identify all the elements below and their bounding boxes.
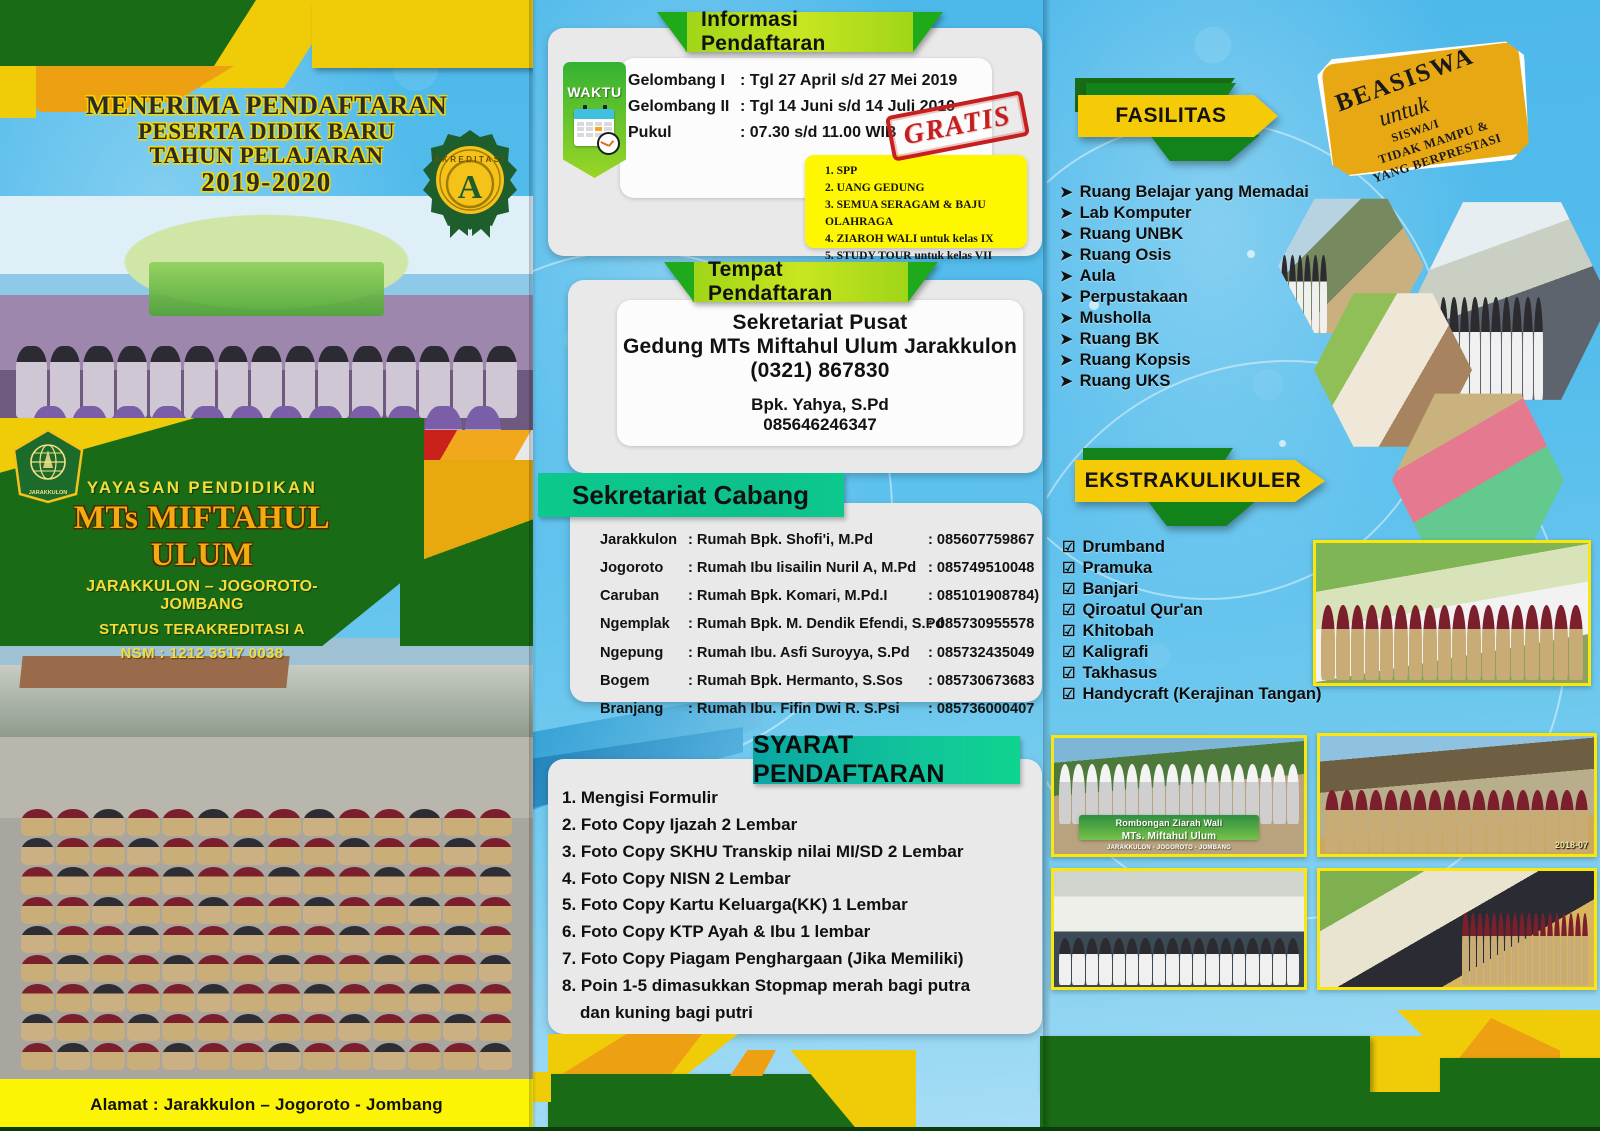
facility-label: Aula — [1080, 266, 1116, 287]
panel-fold-shadow-right — [1043, 0, 1051, 1131]
school-location: JARAKKULON – JOGOROTO-JOMBANG — [52, 578, 352, 614]
foundation-text-block: YAYASAN PENDIDIKAN MTs MIFTAHUL ULUM JAR… — [52, 478, 352, 662]
photo-banner-overlay: Rombongan Ziarah Wali MTs. Miftahul Ulum… — [1079, 815, 1259, 841]
free-item: 3. SEMUA SERAGAM & BAJU OLAHRAGA — [825, 196, 1027, 230]
facility-item: ➤Ruang UNBK — [1060, 224, 1309, 245]
branch-row: Jarakkulon : Rumah Bpk. Shofi'i, M.Pd : … — [600, 526, 1045, 554]
branch-row: Bogem : Rumah Bpk. Hermanto, S.Sos : 085… — [600, 667, 1045, 695]
photo-school-yard-assembly — [0, 638, 533, 1088]
place-contact-phone: 085646246347 — [623, 415, 1017, 435]
accreditation-status: STATUS TERAKREDITASI A — [52, 621, 352, 638]
branch-row: Branjang : Rumah Ibu. Fifin Dwi R. S.Psi… — [600, 695, 1045, 723]
requirements-list: 1. Mengisi Formulir 2. Foto Copy Ijazah … — [562, 785, 1032, 1027]
arrow-bullet-icon: ➤ — [1060, 351, 1073, 370]
section-header-label: FASILITAS — [1115, 104, 1240, 128]
svg-text:A: A — [458, 169, 483, 206]
photo-pramuka-field — [1317, 868, 1597, 990]
checkbox-icon: ☑ — [1062, 580, 1075, 599]
branch-area: Ngepung — [600, 639, 688, 667]
place-contact-name: Bpk. Yahya, S.Pd — [623, 395, 1017, 415]
section-header-label: Tempat Pendaftaran — [692, 258, 910, 306]
free-item: 1. SPP — [825, 162, 1027, 179]
schedule-key: Gelombang II — [628, 94, 740, 120]
arrow-bullet-icon: ➤ — [1060, 183, 1073, 202]
branch-address: : Rumah Bpk. Shofi'i, M.Pd — [688, 526, 928, 554]
brochure-canvas: MENERIMA PENDAFTARAN PESERTA DIDIK BARU … — [0, 0, 1600, 1131]
extracurricular-item: ☑Khitobah — [1062, 621, 1321, 642]
extracurricular-item: ☑Qiroatul Qur'an — [1062, 600, 1321, 621]
arrow-header-main: FASILITAS — [1078, 95, 1278, 137]
facility-label: Perpustakaan — [1080, 287, 1188, 308]
facility-item: ➤Ruang Kopsis — [1060, 350, 1309, 371]
extracurricular-item: ☑Banjari — [1062, 579, 1321, 600]
extracurricular-label: Drumband — [1082, 537, 1165, 558]
checkbox-icon: ☑ — [1062, 664, 1075, 683]
svg-text:AKREDITASI: AKREDITASI — [434, 155, 506, 164]
scholarship-tag: BEASISWA untuk SISWA/I TIDAK MAMPU & YAN… — [1315, 36, 1536, 182]
extracurricular-item: ☑Pramuka — [1062, 558, 1321, 579]
facility-label: Ruang UNBK — [1080, 224, 1184, 245]
branch-area: Jogoroto — [600, 554, 688, 582]
extracurricular-label: Takhasus — [1082, 663, 1157, 684]
yayasan-logo-icon: JARAKKULON — [10, 428, 86, 504]
accreditation-badge-icon: A AKREDITASI — [418, 128, 522, 238]
facility-item: ➤ Musholla — [1060, 308, 1309, 329]
place-line-1: Sekretariat Pusat — [623, 311, 1017, 335]
branch-area: Jarakkulon — [600, 526, 688, 554]
requirement-item: 2. Foto Copy Ijazah 2 Lembar — [562, 812, 1032, 839]
photo-date-stamp: 2018-07 — [1555, 840, 1588, 850]
registration-place-text: Sekretariat Pusat Gedung MTs Miftahul Ul… — [623, 311, 1017, 435]
yayasan-logo: JARAKKULON — [10, 428, 86, 504]
facilities-list: ➤Ruang Belajar yang Memadai ➤Lab Kompute… — [1060, 182, 1309, 392]
requirement-item: 6. Foto Copy KTP Ayah & Ibu 1 lembar — [562, 919, 1032, 946]
section-header-extracurricular: EKSTRAKULIKULER — [1075, 460, 1325, 502]
requirement-item: 7. Foto Copy Piagam Penghargaan (Jika Me… — [562, 946, 1032, 973]
facility-label: Musholla — [1080, 308, 1152, 329]
bottom-ribbon-green-right — [1040, 1036, 1370, 1092]
place-line-2: Gedung MTs Miftahul Ulum Jarakkulon — [623, 335, 1017, 359]
extracurricular-label: Qiroatul Qur'an — [1082, 600, 1202, 621]
section-header-label: Informasi Pendaftaran — [685, 8, 915, 56]
branch-phone: : 085730955578 — [928, 610, 1034, 638]
checkbox-icon: ☑ — [1062, 559, 1075, 578]
footer-address-text: Alamat : Jarakkulon – Jogoroto - Jombang — [90, 1095, 443, 1115]
extracurricular-item: ☑Kaligrafi — [1062, 642, 1321, 663]
schedule-key: Gelombang I — [628, 68, 740, 94]
facility-item: ➤Ruang Belajar yang Memadai — [1060, 182, 1309, 203]
photo-drumband-team — [1313, 540, 1591, 686]
requirement-subline: dan kuning bagi putri — [562, 1000, 1032, 1027]
corner-ribbon-yellow-bar — [312, 0, 533, 68]
branch-phone: : 085749510048 — [928, 554, 1034, 582]
arrow-bullet-icon: ➤ — [1060, 288, 1073, 307]
facility-label: Lab Komputer — [1080, 203, 1192, 224]
schedule-value: : Tgl 27 April s/d 27 Mei 2019 — [740, 68, 957, 94]
headline-line-1: MENERIMA PENDAFTARAN — [0, 92, 533, 120]
photo-ziarah-wali-group: Rombongan Ziarah Wali MTs. Miftahul Ulum… — [1051, 735, 1307, 857]
schedule-value: : 07.30 s/d 11.00 WIB — [740, 120, 897, 146]
facility-label: Ruang UKS — [1080, 371, 1171, 392]
extracurricular-label: Banjari — [1082, 579, 1138, 600]
branch-list: Jarakkulon : Rumah Bpk. Shofi'i, M.Pd : … — [600, 526, 1045, 723]
extracurricular-item: ☑Handycraft (Kerajinan Tangan) — [1062, 684, 1321, 705]
branch-phone: : 085607759867 — [928, 526, 1034, 554]
arrow-header-main: EKSTRAKULIKULER — [1075, 460, 1325, 502]
waktu-label: WAKTU — [563, 84, 626, 100]
bottom-edge-line — [0, 1127, 1600, 1131]
branch-row: Jogoroto : Rumah Ibu Iisailin Nuril A, M… — [600, 554, 1045, 582]
branch-address: : Rumah Ibu. Asfi Suroyya, S.Pd — [688, 639, 928, 667]
photo-stage-banner — [149, 262, 384, 316]
extracurricular-label: Khitobah — [1082, 621, 1154, 642]
section-header-requirements: SYARAT PENDAFTARAN — [753, 736, 1020, 784]
facility-label: Ruang BK — [1080, 329, 1160, 350]
ziarah-banner-subtitle: MTs. Miftahul Ulum — [1079, 828, 1259, 842]
left-panel: MENERIMA PENDAFTARAN PESERTA DIDIK BARU … — [0, 0, 533, 1131]
free-item: 4. ZIAROH WALI untuk kelas IX — [825, 230, 1027, 247]
section-header-registration-place: Tempat Pendaftaran — [692, 262, 910, 302]
branch-area: Bogem — [600, 667, 688, 695]
facility-item: ➤Ruang Osis — [1060, 245, 1309, 266]
school-name: MTs MIFTAHUL ULUM — [52, 500, 352, 574]
checkbox-icon: ☑ — [1062, 538, 1075, 557]
facility-label: Ruang Belajar yang Memadai — [1080, 182, 1309, 203]
facility-item: ➤Lab Komputer — [1060, 203, 1309, 224]
branch-phone: : 085730673683 — [928, 667, 1034, 695]
arrow-bullet-icon: ➤ — [1060, 330, 1073, 349]
extracurricular-label: Handycraft (Kerajinan Tangan) — [1082, 684, 1321, 705]
schedule-key: Pukul — [628, 120, 740, 146]
checkbox-icon: ☑ — [1062, 643, 1075, 662]
panel-fold-shadow-left — [529, 0, 537, 1131]
facility-label: Ruang Osis — [1080, 245, 1172, 266]
arrow-bullet-icon: ➤ — [1060, 372, 1073, 391]
arrow-bullet-icon: ➤ — [1060, 225, 1073, 244]
branch-phone: : 085101908784) — [928, 582, 1039, 610]
schedule-row: Gelombang I : Tgl 27 April s/d 27 Mei 20… — [628, 68, 980, 94]
checkbox-icon: ☑ — [1062, 685, 1075, 704]
section-header-label: EKSTRAKULIKULER — [1085, 469, 1316, 493]
extracurricular-item: ☑Drumband — [1062, 537, 1321, 558]
section-header-label: Sekretariat Cabang — [538, 480, 809, 511]
free-items-box: 1. SPP 2. UANG GEDUNG 3. SEMUA SERAGAM &… — [805, 155, 1027, 248]
checkbox-icon: ☑ — [1062, 622, 1075, 641]
branch-row: Ngepung : Rumah Ibu. Asfi Suroyya, S.Pd … — [600, 639, 1045, 667]
facility-item: ➤Ruang UKS — [1060, 371, 1309, 392]
accreditation-badge: A AKREDITASI — [418, 128, 522, 238]
extracurricular-label: Kaligrafi — [1082, 642, 1148, 663]
free-items-list: 1. SPP 2. UANG GEDUNG 3. SEMUA SERAGAM &… — [825, 162, 1027, 264]
facility-label: Ruang Kopsis — [1080, 350, 1191, 371]
requirement-item-continuation: dan kuning bagi putri — [562, 1000, 1032, 1027]
branch-row: Ngemplak : Rumah Bpk. M. Dendik Efendi, … — [600, 610, 1045, 638]
branch-address: : Rumah Bpk. M. Dendik Efendi, S.Pd — [688, 610, 928, 638]
free-item: 2. UANG GEDUNG — [825, 179, 1027, 196]
branch-row: Caruban : Rumah Bpk. Komari, M.Pd.I : 08… — [600, 582, 1045, 610]
requirement-item: 8. Poin 1-5 dimasukkan Stopmap merah bag… — [562, 973, 1032, 1000]
decor-dot — [1279, 440, 1286, 447]
branch-area: Caruban — [600, 582, 688, 610]
checkbox-icon: ☑ — [1062, 601, 1075, 620]
branch-phone: : 085732435049 — [928, 639, 1034, 667]
bottom-ribbon-green-base — [1040, 1092, 1600, 1131]
branch-phone: : 085736000407 — [928, 695, 1034, 723]
svg-text:JARAKKULON: JARAKKULON — [29, 490, 68, 496]
foundation-yayasan-label: YAYASAN PENDIDIKAN — [52, 478, 352, 498]
photo-outdoor-gathering: 2018-07 — [1317, 733, 1597, 857]
extracurricular-label: Pramuka — [1082, 558, 1152, 579]
waktu-ribbon-tag: WAKTU — [563, 62, 626, 178]
place-phone: (0321) 867830 — [623, 359, 1017, 383]
branch-area: Ngemplak — [600, 610, 688, 638]
extracurricular-item: ☑Takhasus — [1062, 663, 1321, 684]
section-header-registration-info: Informasi Pendaftaran — [685, 12, 915, 52]
clock-icon — [597, 132, 620, 155]
arrow-bullet-icon: ➤ — [1060, 246, 1073, 265]
extracurricular-list: ☑Drumband ☑Pramuka ☑Banjari ☑Qiroatul Qu… — [1062, 537, 1321, 705]
ziarah-banner-title: Rombongan Ziarah Wali — [1079, 815, 1259, 828]
arrow-bullet-icon: ➤ — [1060, 204, 1073, 223]
facility-item: ➤Perpustakaan — [1060, 287, 1309, 308]
ziarah-banner-location: JARAKKULON - JOGOROTO - JOMBANG — [1079, 842, 1259, 851]
section-header-label: SYARAT PENDAFTARAN — [753, 731, 1020, 789]
school-nsm: NSM : 1212 3517 0038 — [52, 645, 352, 662]
footer-address-bar: Alamat : Jarakkulon – Jogoroto - Jombang — [0, 1079, 533, 1131]
requirement-item: 4. Foto Copy NISN 2 Lembar — [562, 866, 1032, 893]
branch-address: : Rumah Bpk. Komari, M.Pd.I — [688, 582, 928, 610]
section-header-branch-secretariat: Sekretariat Cabang — [538, 473, 844, 517]
branch-address: : Rumah Ibu. Fifin Dwi R. S.Psi — [688, 695, 928, 723]
facility-item: ➤Aula — [1060, 266, 1309, 287]
photo-hall-assembly — [1051, 868, 1307, 990]
facility-item: ➤Ruang BK — [1060, 329, 1309, 350]
requirement-item: 5. Foto Copy Kartu Keluarga(KK) 1 Lembar — [562, 892, 1032, 919]
photo-student-rows — [21, 809, 511, 1070]
branch-address: : Rumah Ibu Iisailin Nuril A, M.Pd — [688, 554, 928, 582]
registration-place-inner-card: Sekretariat Pusat Gedung MTs Miftahul Ul… — [617, 300, 1023, 446]
branch-area: Branjang — [600, 695, 688, 723]
arrow-bullet-icon: ➤ — [1060, 267, 1073, 286]
requirement-item: 1. Mengisi Formulir — [562, 785, 1032, 812]
section-header-facilities: FASILITAS — [1078, 95, 1278, 137]
branch-address: : Rumah Bpk. Hermanto, S.Sos — [688, 667, 928, 695]
arrow-bullet-icon: ➤ — [1060, 309, 1073, 328]
requirement-item: 3. Foto Copy SKHU Transkip nilai MI/SD 2… — [562, 839, 1032, 866]
